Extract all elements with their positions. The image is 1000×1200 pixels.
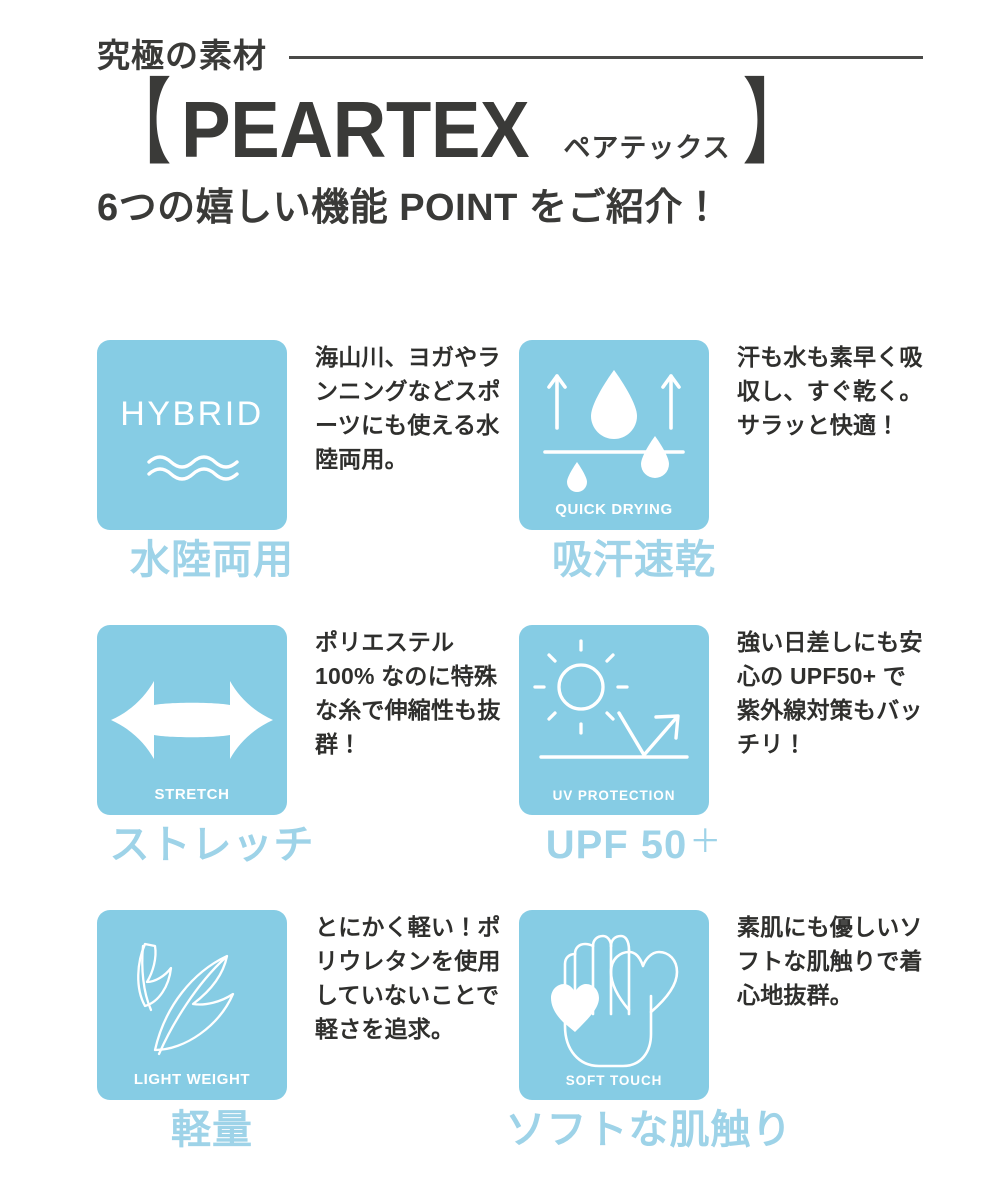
quick-drying-droplet-icon: QUICK DRYING — [519, 340, 709, 530]
feature-card-quick-drying: QUICK DRYING 汗も水も素早く吸収し、すぐ乾く。サラッと快適！ 吸汗速… — [519, 340, 937, 625]
feature-card-top: LIGHT WEIGHT とにかく軽い！ポリウレタンを使用していないことで軽さを… — [97, 910, 515, 1100]
feature-label: ストレッチ — [97, 821, 327, 869]
feature-label: 軽量 — [97, 1106, 327, 1154]
tile-caption: STRETCH — [97, 787, 287, 802]
feature-card-hybrid: HYBRID 海山川、ヨガやランニングなどスポーツにも使える水陸両用。 水陸両用 — [97, 340, 515, 625]
feature-label: UPF 50＋ — [519, 821, 749, 869]
brand-kana-reading: ペアテックス — [563, 135, 730, 162]
feature-description: とにかく軽い！ポリウレタンを使用していないことで軽さを追求。 — [315, 910, 505, 1046]
tile-caption: QUICK DRYING — [519, 502, 709, 517]
tile-caption: LIGHT WEIGHT — [97, 1072, 287, 1087]
bracket-left: 【 — [106, 76, 172, 170]
tile-caption: HYBRID — [97, 397, 287, 431]
feature-card-uv-protection: UV PROTECTION 強い日差しにも安心の UPF50+ で紫外線対策もバ… — [519, 625, 937, 910]
feature-label: 水陸両用 — [97, 536, 327, 584]
header-divider-rule — [289, 56, 923, 59]
brand-name: PEARTEX — [181, 90, 529, 170]
feature-description: 海山川、ヨガやランニングなどスポーツにも使える水陸両用。 — [315, 340, 505, 476]
eyebrow-row: 究極の素材 — [97, 30, 937, 80]
feature-card-top: QUICK DRYING 汗も水も素早く吸収し、すぐ乾く。サラッと快適！ — [519, 340, 937, 530]
stretch-double-arrow-icon: STRETCH — [97, 625, 287, 815]
feature-card-top: SOFT TOUCH 素肌にも優しいソフトな肌触りで着心地抜群。 — [519, 910, 937, 1100]
uv-protection-sun-icon: UV PROTECTION — [519, 625, 709, 815]
feature-description: 汗も水も素早く吸収し、すぐ乾く。サラッと快適！ — [737, 340, 927, 442]
feature-description: 強い日差しにも安心の UPF50+ で紫外線対策もバッチリ！ — [737, 625, 927, 761]
tile-caption: SOFT TOUCH — [519, 1074, 709, 1088]
feature-label-plus: ＋ — [689, 823, 722, 859]
feature-description: ポリエステル100% なのに特殊な糸で伸縮性も抜群！ — [315, 625, 505, 761]
bracket-right: 】 — [742, 76, 808, 170]
page-subheading: 6つの嬉しい機能 POINT をご紹介！ — [97, 188, 937, 230]
page-header: 究極の素材 【 PEARTEX ペアテックス 】 6つの嬉しい機能 POINT … — [97, 30, 937, 230]
tile-caption: UV PROTECTION — [519, 789, 709, 803]
feature-card-stretch: STRETCH ポリエステル100% なのに特殊な糸で伸縮性も抜群！ ストレッチ — [97, 625, 515, 910]
brand-row: 【 PEARTEX ペアテックス 】 — [97, 86, 937, 172]
light-weight-feather-icon: LIGHT WEIGHT — [97, 910, 287, 1100]
feature-label: ソフトな肌触り — [484, 1106, 814, 1154]
eyebrow-text: 究極の素材 — [97, 39, 267, 72]
feature-card-light-weight: LIGHT WEIGHT とにかく軽い！ポリウレタンを使用していないことで軽さを… — [97, 910, 515, 1195]
feature-grid: HYBRID 海山川、ヨガやランニングなどスポーツにも使える水陸両用。 水陸両用 — [97, 340, 937, 1195]
feature-description: 素肌にも優しいソフトな肌触りで着心地抜群。 — [737, 910, 927, 1012]
feature-card-top: STRETCH ポリエステル100% なのに特殊な糸で伸縮性も抜群！ — [97, 625, 515, 815]
feature-card-top: HYBRID 海山川、ヨガやランニングなどスポーツにも使える水陸両用。 — [97, 340, 515, 530]
soft-touch-hand-heart-icon: SOFT TOUCH — [519, 910, 709, 1100]
feature-card-top: UV PROTECTION 強い日差しにも安心の UPF50+ で紫外線対策もバ… — [519, 625, 937, 815]
hybrid-wave-icon: HYBRID — [97, 340, 287, 530]
feature-label-text: UPF 50 — [546, 823, 688, 867]
feature-label: 吸汗速乾 — [519, 536, 749, 584]
feature-card-soft-touch: SOFT TOUCH 素肌にも優しいソフトな肌触りで着心地抜群。 ソフトな肌触り — [519, 910, 937, 1195]
